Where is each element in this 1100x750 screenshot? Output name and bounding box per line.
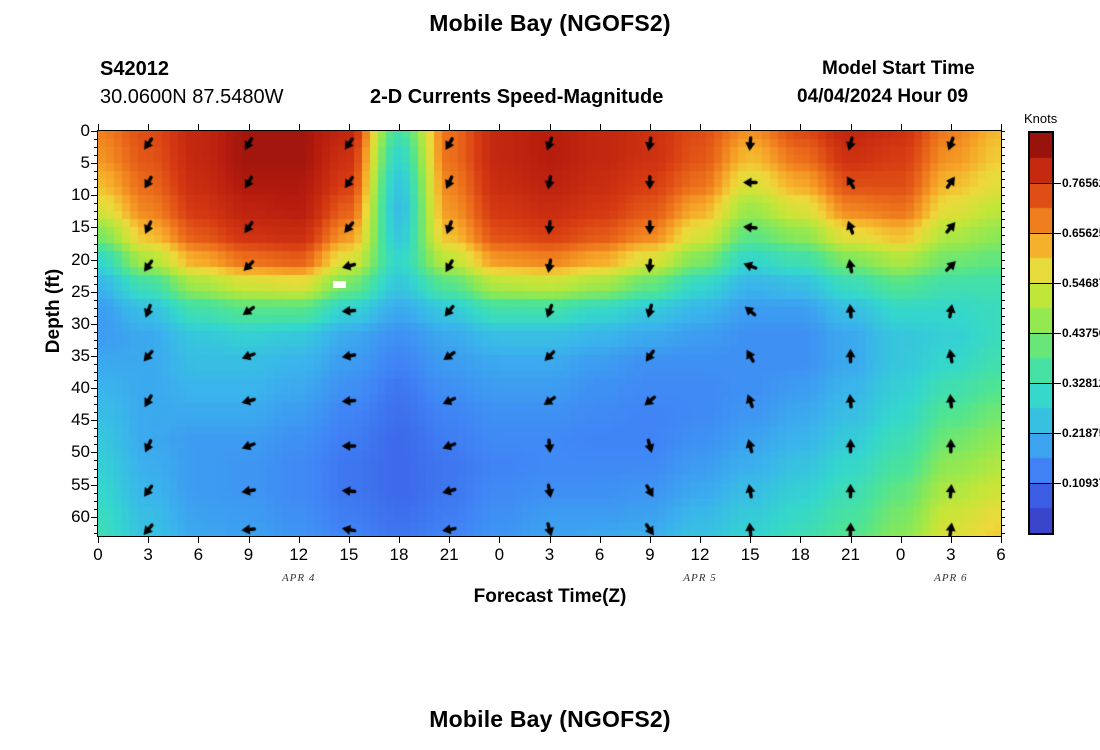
x-axis-tick-label: 9 — [244, 545, 253, 565]
y-axis-tick-label: 25 — [71, 282, 90, 302]
colorbar-separator — [1030, 383, 1052, 384]
y-axis-minor-tick — [94, 380, 98, 381]
y-axis-minor-tick — [94, 460, 98, 461]
y-axis-minor-tick-right — [1001, 195, 1005, 196]
y-axis-minor-tick-right — [1001, 388, 1005, 389]
y-axis-minor-tick-right — [1001, 147, 1005, 148]
y-axis-minor-tick-right — [1001, 219, 1005, 220]
y-axis-minor-tick-right — [1001, 268, 1005, 269]
y-axis-minor-tick — [94, 412, 98, 413]
y-axis-minor-tick — [94, 147, 98, 148]
x-axis-top-tick-mark — [349, 124, 350, 131]
x-axis-top-tick-mark — [98, 124, 99, 131]
y-axis-minor-tick-right — [1001, 187, 1005, 188]
x-axis-tick-label: 12 — [289, 545, 308, 565]
x-axis-tick-label: 0 — [495, 545, 504, 565]
y-axis-minor-tick-right — [1001, 284, 1005, 285]
colorbar-tick-mark — [1052, 383, 1061, 384]
station-id-label: S42012 — [100, 58, 169, 81]
y-axis-minor-tick — [94, 219, 98, 220]
y-axis-minor-tick-right — [1001, 227, 1005, 228]
x-axis-top-tick-mark — [550, 124, 551, 131]
colorbar-separator — [1030, 333, 1052, 334]
y-axis-tick-label: 15 — [71, 217, 90, 237]
x-axis-top-tick-mark — [249, 124, 250, 131]
plot-subtitle: 2-D Currents Speed-Magnitude — [370, 86, 663, 109]
y-axis-minor-tick-right — [1001, 276, 1005, 277]
y-axis-minor-tick — [94, 179, 98, 180]
x-axis-tick-label: 3 — [946, 545, 955, 565]
y-axis-minor-tick — [94, 276, 98, 277]
x-axis-tick-mark — [399, 536, 400, 543]
y-axis-minor-tick — [94, 485, 98, 486]
y-axis-minor-tick — [94, 493, 98, 494]
y-axis-minor-tick-right — [1001, 324, 1005, 325]
y-axis-tick-label: 50 — [71, 442, 90, 462]
station-coordinates-label: 30.0600N 87.5480W — [100, 86, 283, 109]
x-axis-tick-mark — [951, 536, 952, 543]
y-axis-minor-tick-right — [1001, 340, 1005, 341]
x-axis-tick-label: 18 — [791, 545, 810, 565]
y-axis-minor-tick-right — [1001, 420, 1005, 421]
x-axis-tick-label: 21 — [841, 545, 860, 565]
y-axis-minor-tick — [94, 509, 98, 510]
y-axis-minor-tick-right — [1001, 300, 1005, 301]
y-axis-minor-tick-right — [1001, 460, 1005, 461]
y-axis-minor-tick-right — [1001, 364, 1005, 365]
x-axis-top-tick-mark — [299, 124, 300, 131]
y-axis-minor-tick — [94, 211, 98, 212]
y-axis-minor-tick — [94, 396, 98, 397]
x-axis-tick-mark — [98, 536, 99, 543]
y-axis-minor-tick — [94, 469, 98, 470]
x-axis-tick-label: 9 — [645, 545, 654, 565]
y-axis-minor-tick — [94, 420, 98, 421]
model-start-time-value: 04/04/2024 Hour 09 — [797, 86, 968, 108]
y-axis-minor-tick — [94, 428, 98, 429]
x-axis-top-tick-mark — [499, 124, 500, 131]
x-axis-tick-label: 6 — [194, 545, 203, 565]
y-axis-minor-tick — [94, 452, 98, 453]
x-axis-top-tick-mark — [650, 124, 651, 131]
x-axis-tick-mark — [700, 536, 701, 543]
y-axis-minor-tick-right — [1001, 444, 1005, 445]
y-axis-minor-tick — [94, 444, 98, 445]
y-axis-minor-tick-right — [1001, 509, 1005, 510]
colorbar-separator — [1030, 183, 1052, 184]
y-axis-minor-tick-right — [1001, 211, 1005, 212]
x-axis-top-tick-mark — [1001, 124, 1002, 131]
y-axis-minor-tick-right — [1001, 139, 1005, 140]
x-axis-tick-mark — [349, 536, 350, 543]
page-title-main: Mobile Bay (NGOFS2) — [0, 10, 1100, 37]
y-axis-minor-tick-right — [1001, 260, 1005, 261]
y-axis-minor-tick-right — [1001, 171, 1005, 172]
y-axis-minor-tick-right — [1001, 428, 1005, 429]
y-axis-minor-tick-right — [1001, 252, 1005, 253]
x-axis-tick-mark — [851, 536, 852, 543]
y-axis-minor-tick-right — [1001, 163, 1005, 164]
colorbar-tick-label: 0.546875 — [1062, 276, 1100, 290]
x-axis-date-label: APR 5 — [683, 572, 716, 584]
x-axis-tick-mark — [800, 536, 801, 543]
y-axis-minor-tick — [94, 195, 98, 196]
y-axis-minor-tick-right — [1001, 244, 1005, 245]
y-axis-minor-tick-right — [1001, 501, 1005, 502]
y-axis-minor-tick-right — [1001, 469, 1005, 470]
colorbar-separator — [1030, 233, 1052, 234]
x-axis-label: Forecast Time(Z) — [0, 586, 1100, 608]
y-axis-minor-tick — [94, 348, 98, 349]
current-profile-plot: 0510152025303540455055600369121518210369… — [97, 130, 1002, 537]
x-axis-tick-label: 6 — [595, 545, 604, 565]
y-axis-minor-tick — [94, 501, 98, 502]
y-axis-minor-tick-right — [1001, 396, 1005, 397]
y-axis-minor-tick — [94, 404, 98, 405]
y-axis-minor-tick-right — [1001, 533, 1005, 534]
y-axis-minor-tick — [94, 155, 98, 156]
model-start-time-label: Model Start Time — [822, 58, 975, 80]
y-axis-minor-tick-right — [1001, 525, 1005, 526]
colorbar-tick-mark — [1052, 333, 1061, 334]
y-axis-minor-tick-right — [1001, 477, 1005, 478]
x-axis-tick-mark — [750, 536, 751, 543]
colorbar-tick-label: 0.437500 — [1062, 326, 1100, 340]
missing-data-marker — [333, 281, 346, 288]
y-axis-label: Depth (ft) — [43, 251, 65, 371]
y-axis-minor-tick-right — [1001, 348, 1005, 349]
current-vector-arrows — [98, 131, 1001, 536]
y-axis-minor-tick — [94, 332, 98, 333]
x-axis-tick-mark — [901, 536, 902, 543]
x-axis-tick-label: 0 — [93, 545, 102, 565]
colorbar-tick-mark — [1052, 283, 1061, 284]
y-axis-minor-tick — [94, 292, 98, 293]
colorbar-title: Knots — [1024, 111, 1057, 126]
y-axis-minor-tick-right — [1001, 332, 1005, 333]
y-axis-minor-tick — [94, 268, 98, 269]
y-axis-minor-tick — [94, 517, 98, 518]
colorbar-tick-mark — [1052, 183, 1061, 184]
x-axis-tick-mark — [600, 536, 601, 543]
y-axis-tick-label: 10 — [71, 185, 90, 205]
x-axis-date-label: APR 4 — [282, 572, 315, 584]
x-axis-tick-label: 6 — [996, 545, 1005, 565]
y-axis-minor-tick-right — [1001, 412, 1005, 413]
y-axis-minor-tick — [94, 477, 98, 478]
y-axis-minor-tick-right — [1001, 380, 1005, 381]
y-axis-minor-tick-right — [1001, 203, 1005, 204]
y-axis-minor-tick-right — [1001, 372, 1005, 373]
y-axis-minor-tick-right — [1001, 179, 1005, 180]
x-axis-tick-label: 21 — [440, 545, 459, 565]
x-axis-tick-mark — [550, 536, 551, 543]
y-axis-minor-tick — [94, 324, 98, 325]
colorbar-tick-mark — [1052, 483, 1061, 484]
x-axis-top-tick-mark — [750, 124, 751, 131]
x-axis-top-tick-mark — [851, 124, 852, 131]
colorbar-tick-mark — [1052, 233, 1061, 234]
x-axis-top-tick-mark — [901, 124, 902, 131]
y-axis-minor-tick — [94, 244, 98, 245]
x-axis-tick-mark — [148, 536, 149, 543]
colorbar-tick-label: 0.328125 — [1062, 376, 1100, 390]
y-axis-tick-label: 45 — [71, 410, 90, 430]
x-axis-top-tick-mark — [951, 124, 952, 131]
y-axis-minor-tick-right — [1001, 235, 1005, 236]
y-axis-minor-tick — [94, 131, 98, 132]
x-axis-date-label: APR 6 — [934, 572, 967, 584]
x-axis-top-tick-mark — [600, 124, 601, 131]
colorbar-tick-label: 0.765625 — [1062, 176, 1100, 190]
y-axis-tick-label: 20 — [71, 250, 90, 270]
x-axis-tick-mark — [249, 536, 250, 543]
y-axis-minor-tick — [94, 372, 98, 373]
y-axis-minor-tick-right — [1001, 155, 1005, 156]
y-axis-minor-tick — [94, 436, 98, 437]
x-axis-tick-mark — [299, 536, 300, 543]
colorbar-tick-label: 0.656250 — [1062, 226, 1100, 240]
x-axis-tick-label: 18 — [390, 545, 409, 565]
x-axis-top-tick-mark — [800, 124, 801, 131]
x-axis-tick-mark — [1001, 536, 1002, 543]
y-axis-minor-tick — [94, 300, 98, 301]
y-axis-minor-tick-right — [1001, 452, 1005, 453]
y-axis-minor-tick — [94, 388, 98, 389]
colorbar-tick-mark — [1052, 433, 1061, 434]
x-axis-tick-mark — [198, 536, 199, 543]
x-axis-tick-label: 3 — [143, 545, 152, 565]
y-axis-minor-tick — [94, 252, 98, 253]
y-axis-minor-tick-right — [1001, 316, 1005, 317]
y-axis-minor-tick — [94, 139, 98, 140]
y-axis-minor-tick — [94, 525, 98, 526]
y-axis-tick-label: 55 — [71, 475, 90, 495]
y-axis-tick-label: 5 — [81, 153, 90, 173]
y-axis-minor-tick-right — [1001, 292, 1005, 293]
x-axis-tick-label: 15 — [339, 545, 358, 565]
y-axis-tick-label: 35 — [71, 346, 90, 366]
x-axis-top-tick-mark — [449, 124, 450, 131]
y-axis-minor-tick — [94, 171, 98, 172]
y-axis-minor-tick — [94, 316, 98, 317]
colorbar-tick-label: 0.109375 — [1062, 476, 1100, 490]
y-axis-minor-tick — [94, 235, 98, 236]
x-axis-tick-label: 15 — [741, 545, 760, 565]
y-axis-tick-label: 30 — [71, 314, 90, 334]
x-axis-top-tick-mark — [148, 124, 149, 131]
colorbar-separator — [1030, 283, 1052, 284]
y-axis-minor-tick-right — [1001, 308, 1005, 309]
y-axis-minor-tick — [94, 284, 98, 285]
y-axis-minor-tick — [94, 163, 98, 164]
x-axis-top-tick-mark — [399, 124, 400, 131]
y-axis-minor-tick-right — [1001, 356, 1005, 357]
x-axis-top-tick-mark — [198, 124, 199, 131]
y-axis-minor-tick — [94, 364, 98, 365]
x-axis-tick-mark — [499, 536, 500, 543]
x-axis-tick-mark — [449, 536, 450, 543]
y-axis-tick-label: 40 — [71, 378, 90, 398]
y-axis-tick-label: 60 — [71, 507, 90, 527]
y-axis-minor-tick — [94, 227, 98, 228]
y-axis-minor-tick-right — [1001, 436, 1005, 437]
colorbar-separator — [1030, 483, 1052, 484]
colorbar-tick-label: 0.218750 — [1062, 426, 1100, 440]
y-axis-tick-label: 0 — [81, 121, 90, 141]
y-axis-minor-tick — [94, 340, 98, 341]
x-axis-tick-label: 3 — [545, 545, 554, 565]
x-axis-top-tick-mark — [700, 124, 701, 131]
y-axis-minor-tick-right — [1001, 131, 1005, 132]
colorbar: 0.1093750.2187500.3281250.4375000.546875… — [1028, 131, 1054, 535]
x-axis-tick-mark — [650, 536, 651, 543]
colorbar-separator — [1030, 433, 1052, 434]
x-axis-tick-label: 12 — [691, 545, 710, 565]
y-axis-minor-tick — [94, 187, 98, 188]
y-axis-minor-tick — [94, 356, 98, 357]
y-axis-minor-tick — [94, 260, 98, 261]
y-axis-minor-tick-right — [1001, 404, 1005, 405]
x-axis-tick-label: 0 — [896, 545, 905, 565]
y-axis-minor-tick — [94, 203, 98, 204]
y-axis-minor-tick — [94, 533, 98, 534]
y-axis-minor-tick-right — [1001, 493, 1005, 494]
y-axis-minor-tick — [94, 308, 98, 309]
y-axis-minor-tick-right — [1001, 485, 1005, 486]
y-axis-minor-tick-right — [1001, 517, 1005, 518]
page-title-bottom: Mobile Bay (NGOFS2) — [0, 706, 1100, 733]
